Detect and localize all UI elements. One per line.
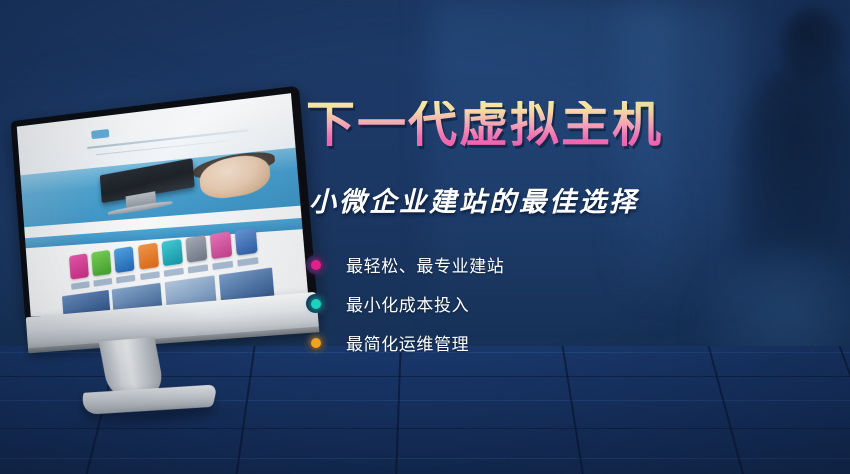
feature-label: 最简化运维管理 <box>346 330 469 355</box>
list-item: 最小化成本投入 <box>306 291 504 316</box>
feature-label: 最小化成本投入 <box>346 291 469 316</box>
list-item: 最简化运维管理 <box>306 330 504 355</box>
monitor-bezel <box>11 86 319 324</box>
list-item: 最轻松、最专业建站 <box>306 252 504 277</box>
page-subtitle: 小微企业建站的最佳选择 <box>309 180 639 219</box>
page-title: 下一代虚拟主机 <box>306 101 663 150</box>
dot-bullet-icon <box>306 333 325 352</box>
background-person-head-silhouette <box>782 8 844 80</box>
feature-list: 最轻松、最专业建站 最小化成本投入 最简化运维管理 <box>306 252 504 355</box>
desktop-monitor-icon <box>0 81 310 403</box>
website-nav-placeholder-secondary <box>95 140 228 156</box>
promo-banner: 下一代虚拟主机 小微企业建站的最佳选择 最轻松、最专业建站 最小化成本投入 最简… <box>0 0 850 474</box>
monitor-screen <box>17 93 309 316</box>
feature-label: 最轻松、最专业建站 <box>346 252 504 277</box>
dot-bullet-icon <box>306 294 325 313</box>
website-logo <box>91 129 109 139</box>
dot-bullet-icon <box>306 255 325 274</box>
